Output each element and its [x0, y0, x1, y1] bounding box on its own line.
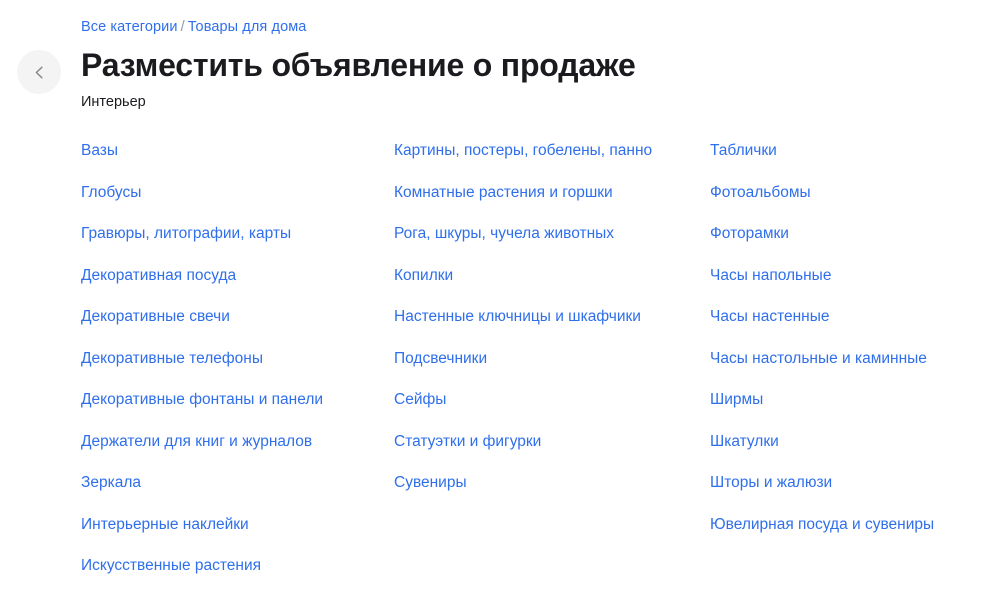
category-link[interactable]: Картины, постеры, гобелены, панно [394, 140, 694, 162]
category-link[interactable]: Гравюры, литографии, карты [81, 223, 381, 245]
category-link[interactable]: Декоративные фонтаны и панели [81, 389, 381, 411]
page-subtitle: Интерьер [81, 93, 976, 112]
category-link[interactable]: Фоторамки [710, 223, 996, 245]
category-link[interactable]: Ювелирная посуда и сувениры [710, 514, 996, 536]
category-link[interactable]: Сувениры [394, 472, 694, 494]
category-link[interactable]: Шкатулки [710, 431, 996, 453]
category-link[interactable]: Часы настенные [710, 306, 996, 328]
category-columns: Вазы Глобусы Гравюры, литографии, карты … [0, 140, 996, 597]
category-link[interactable]: Декоративная посуда [81, 265, 381, 287]
category-link[interactable]: Сейфы [394, 389, 694, 411]
page-title: Разместить объявление о продаже [81, 46, 976, 84]
page-header: Все категории/Товары для дома Разместить… [81, 18, 976, 112]
category-link[interactable]: Держатели для книг и журналов [81, 431, 381, 453]
category-link[interactable]: Интерьерные наклейки [81, 514, 381, 536]
category-link[interactable]: Декоративные телефоны [81, 348, 381, 370]
category-link[interactable]: Таблички [710, 140, 996, 162]
category-link[interactable]: Глобусы [81, 182, 381, 204]
category-column-2: Картины, постеры, гобелены, панно Комнат… [394, 140, 694, 597]
category-link[interactable]: Статуэтки и фигурки [394, 431, 694, 453]
breadcrumb-item-home-goods[interactable]: Товары для дома [188, 19, 307, 35]
category-link[interactable]: Фотоальбомы [710, 182, 996, 204]
category-link[interactable]: Зеркала [81, 472, 381, 494]
back-button[interactable] [17, 50, 61, 94]
category-link[interactable]: Часы настольные и каминные [710, 348, 996, 370]
chevron-left-icon [31, 64, 48, 81]
category-link[interactable]: Рога, шкуры, чучела животных [394, 223, 694, 245]
category-column-3: Таблички Фотоальбомы Фоторамки Часы напо… [710, 140, 996, 597]
category-link[interactable]: Копилки [394, 265, 694, 287]
category-link[interactable]: Декоративные свечи [81, 306, 381, 328]
category-link[interactable]: Настенные ключницы и шкафчики [394, 306, 694, 328]
breadcrumb: Все категории/Товары для дома [81, 18, 976, 37]
category-link[interactable]: Вазы [81, 140, 381, 162]
category-column-1: Вазы Глобусы Гравюры, литографии, карты … [81, 140, 381, 597]
category-link[interactable]: Комнатные растения и горшки [394, 182, 694, 204]
breadcrumb-separator: / [178, 19, 188, 35]
category-link[interactable]: Ширмы [710, 389, 996, 411]
category-link[interactable]: Подсвечники [394, 348, 694, 370]
category-link[interactable]: Часы напольные [710, 265, 996, 287]
breadcrumb-item-all-categories[interactable]: Все категории [81, 19, 178, 35]
category-link[interactable]: Искусственные растения [81, 555, 381, 577]
category-link[interactable]: Шторы и жалюзи [710, 472, 996, 494]
